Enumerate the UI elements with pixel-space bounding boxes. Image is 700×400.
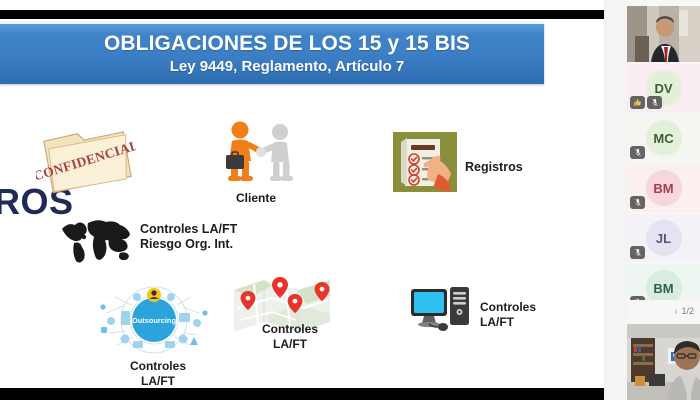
stage-gutter (604, 0, 628, 400)
avatar-initials: BM (653, 281, 673, 296)
map-controles-label: Controles LA/FT (250, 322, 330, 351)
registros-label: Registros (465, 160, 523, 175)
outsourcing-text: Outsourcing (132, 316, 176, 325)
chevron-left-icon[interactable]: ‹ (674, 306, 677, 316)
avatar: BM (646, 170, 682, 206)
avatar-initials: DV (654, 81, 672, 96)
reaction-thumbsup-icon (630, 96, 645, 109)
avatar-initials: MC (653, 131, 673, 146)
slide-title: OBLIGACIONES DE LOS 15 y 15 BIS (104, 32, 470, 55)
speaker-video-frame (627, 6, 700, 62)
office-video-frame (627, 324, 700, 400)
cliente-label: Cliente (214, 191, 298, 206)
avatar: JL (646, 220, 682, 256)
tile-badges (630, 196, 645, 209)
avatar-initials: BM (653, 181, 673, 196)
slide-canvas: OBLIGACIONES DE LOS 15 y 15 BIS Ley 9449… (0, 19, 590, 388)
slide-title-banner: OBLIGACIONES DE LOS 15 y 15 BIS Ley 9449… (0, 22, 544, 84)
mic-muted-icon (630, 146, 645, 159)
letterbox-top (0, 10, 604, 19)
participant-tile-mc[interactable]: MC (627, 114, 700, 162)
registros-checklist-icon (393, 132, 457, 192)
confidential-folder-icon: CONFIDENCIAL (36, 123, 136, 195)
mic-muted-icon (647, 96, 662, 109)
world-map-icon (58, 215, 136, 267)
participant-tile-dv[interactable]: DV (627, 64, 700, 112)
participant-tile-bm-1[interactable]: BM (627, 164, 700, 212)
computer-controles-label: Controles LA/FT (480, 300, 536, 329)
outsourcing-controles-label: Controles LA/FT (110, 359, 206, 388)
tile-badges (630, 96, 662, 109)
mic-muted-icon (630, 196, 645, 209)
pager-label: 1/2 (681, 306, 694, 316)
avatar: MC (646, 120, 682, 156)
presentation-stage[interactable]: OBLIGACIONES DE LOS 15 y 15 BIS Ley 9449… (0, 0, 604, 400)
controles-riesgo-label: Controles LA/FT Riesgo Org. Int. (140, 222, 237, 253)
letterbox-bottom (0, 388, 604, 400)
avatar-initials: JL (656, 231, 671, 246)
outsourcing-network-icon: Outsourcing (95, 283, 213, 357)
participants-rail[interactable]: DV MC BM (627, 0, 700, 400)
participant-tile-jl[interactable]: JL (627, 214, 700, 262)
desktop-computer-icon (410, 285, 472, 337)
participant-tile-speaker[interactable] (627, 6, 700, 62)
tile-badges (630, 246, 645, 259)
tile-badges (630, 146, 645, 159)
slide-subtitle: Ley 9449, Reglamento, Artículo 7 (170, 59, 405, 76)
participants-pager[interactable]: ‹ 1/2 (627, 300, 700, 322)
participant-tile-office-video[interactable] (627, 324, 700, 400)
mic-muted-icon (630, 246, 645, 259)
handshake-people-icon (214, 119, 298, 187)
